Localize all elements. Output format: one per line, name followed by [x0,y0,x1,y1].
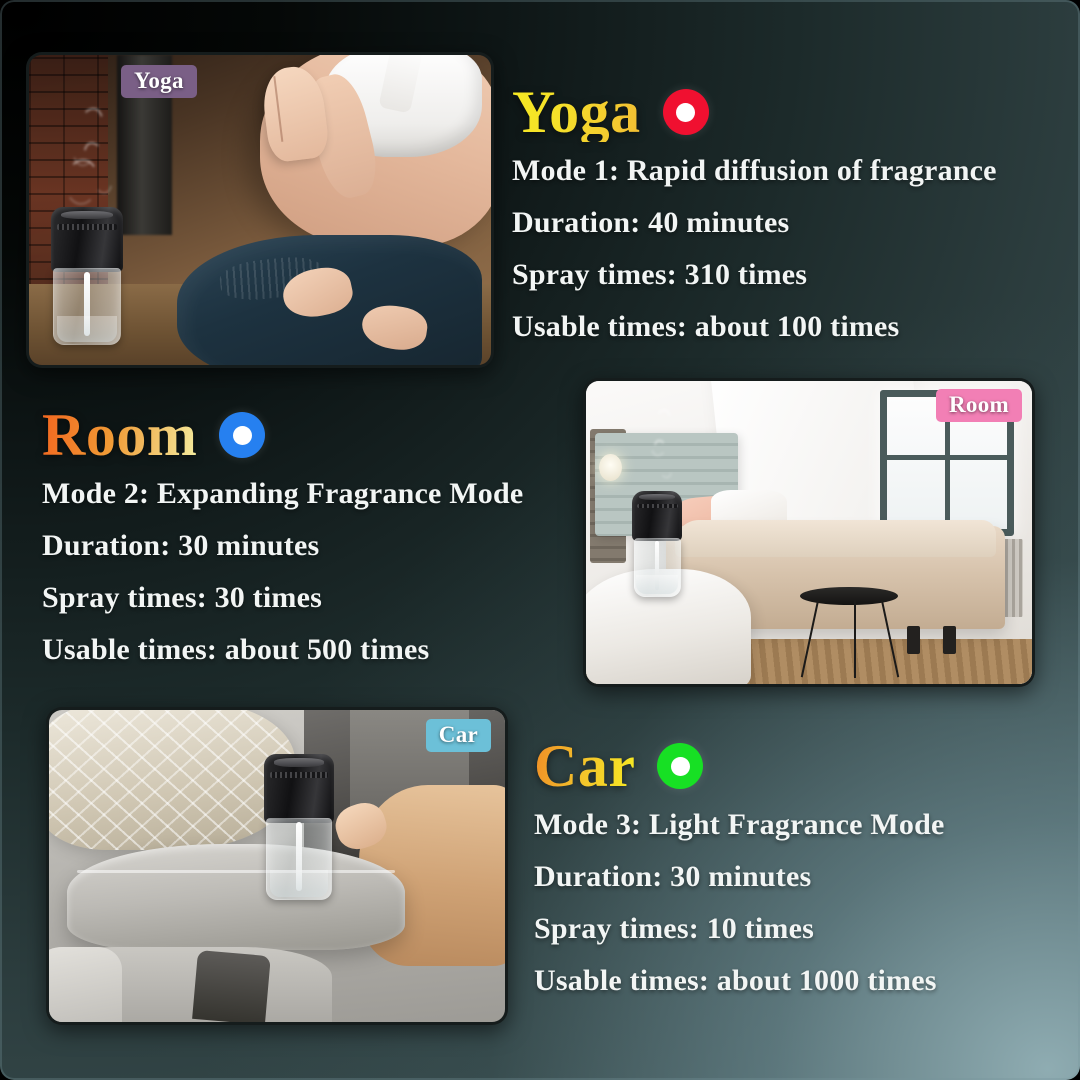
room-scene-illustration [586,381,1032,684]
section-lines-yoga: Mode 1: Rapid diffusion of fragrance Dur… [512,156,997,342]
section-text-car: Car Mode 3: Light Fragrance Mode Duratio… [534,736,945,996]
section-header-room: Room [42,405,523,465]
car-scene-illustration [49,710,505,1022]
section-text-yoga: Yoga Mode 1: Rapid diffusion of fragranc… [512,82,997,342]
diffuser-device-icon [51,207,123,345]
photo-card-room: Room [583,378,1035,687]
photo-badge-room: Room [936,389,1022,422]
product-infographic-poster: Yoga Yoga Mode 1: Rapid diffusion of fra… [0,0,1080,1080]
spec-duration: Duration: 30 minutes [42,531,523,561]
section-title-yoga: Yoga [512,82,641,142]
section-title-car: Car [534,736,635,796]
section-title-room: Room [42,405,197,465]
spec-spray-times: Spray times: 30 times [42,583,523,613]
section-lines-car: Mode 3: Light Fragrance Mode Duration: 3… [534,810,945,996]
diffuser-device-icon [264,754,334,900]
section-lines-room: Mode 2: Expanding Fragrance Mode Duratio… [42,479,523,665]
yoga-scene-illustration [29,55,491,365]
photo-card-yoga: Yoga [26,52,494,368]
spec-usable-times: Usable times: about 1000 times [534,966,945,996]
spec-duration: Duration: 40 minutes [512,208,997,238]
spec-mode: Mode 2: Expanding Fragrance Mode [42,479,523,509]
diffuser-device-icon [632,491,682,597]
spec-usable-times: Usable times: about 100 times [512,312,997,342]
photo-badge-car: Car [426,719,491,752]
green-status-indicator [657,743,703,789]
spec-mode: Mode 1: Rapid diffusion of fragrance [512,156,997,186]
spec-duration: Duration: 30 minutes [534,862,945,892]
spec-spray-times: Spray times: 10 times [534,914,945,944]
red-status-indicator [663,89,709,135]
section-header-yoga: Yoga [512,82,997,142]
spec-mode: Mode 3: Light Fragrance Mode [534,810,945,840]
photo-badge-yoga: Yoga [121,65,197,98]
spec-spray-times: Spray times: 310 times [512,260,997,290]
section-text-room: Room Mode 2: Expanding Fragrance Mode Du… [42,405,523,665]
section-header-car: Car [534,736,945,796]
photo-card-car: Car [46,707,508,1025]
spec-usable-times: Usable times: about 500 times [42,635,523,665]
blue-status-indicator [219,412,265,458]
